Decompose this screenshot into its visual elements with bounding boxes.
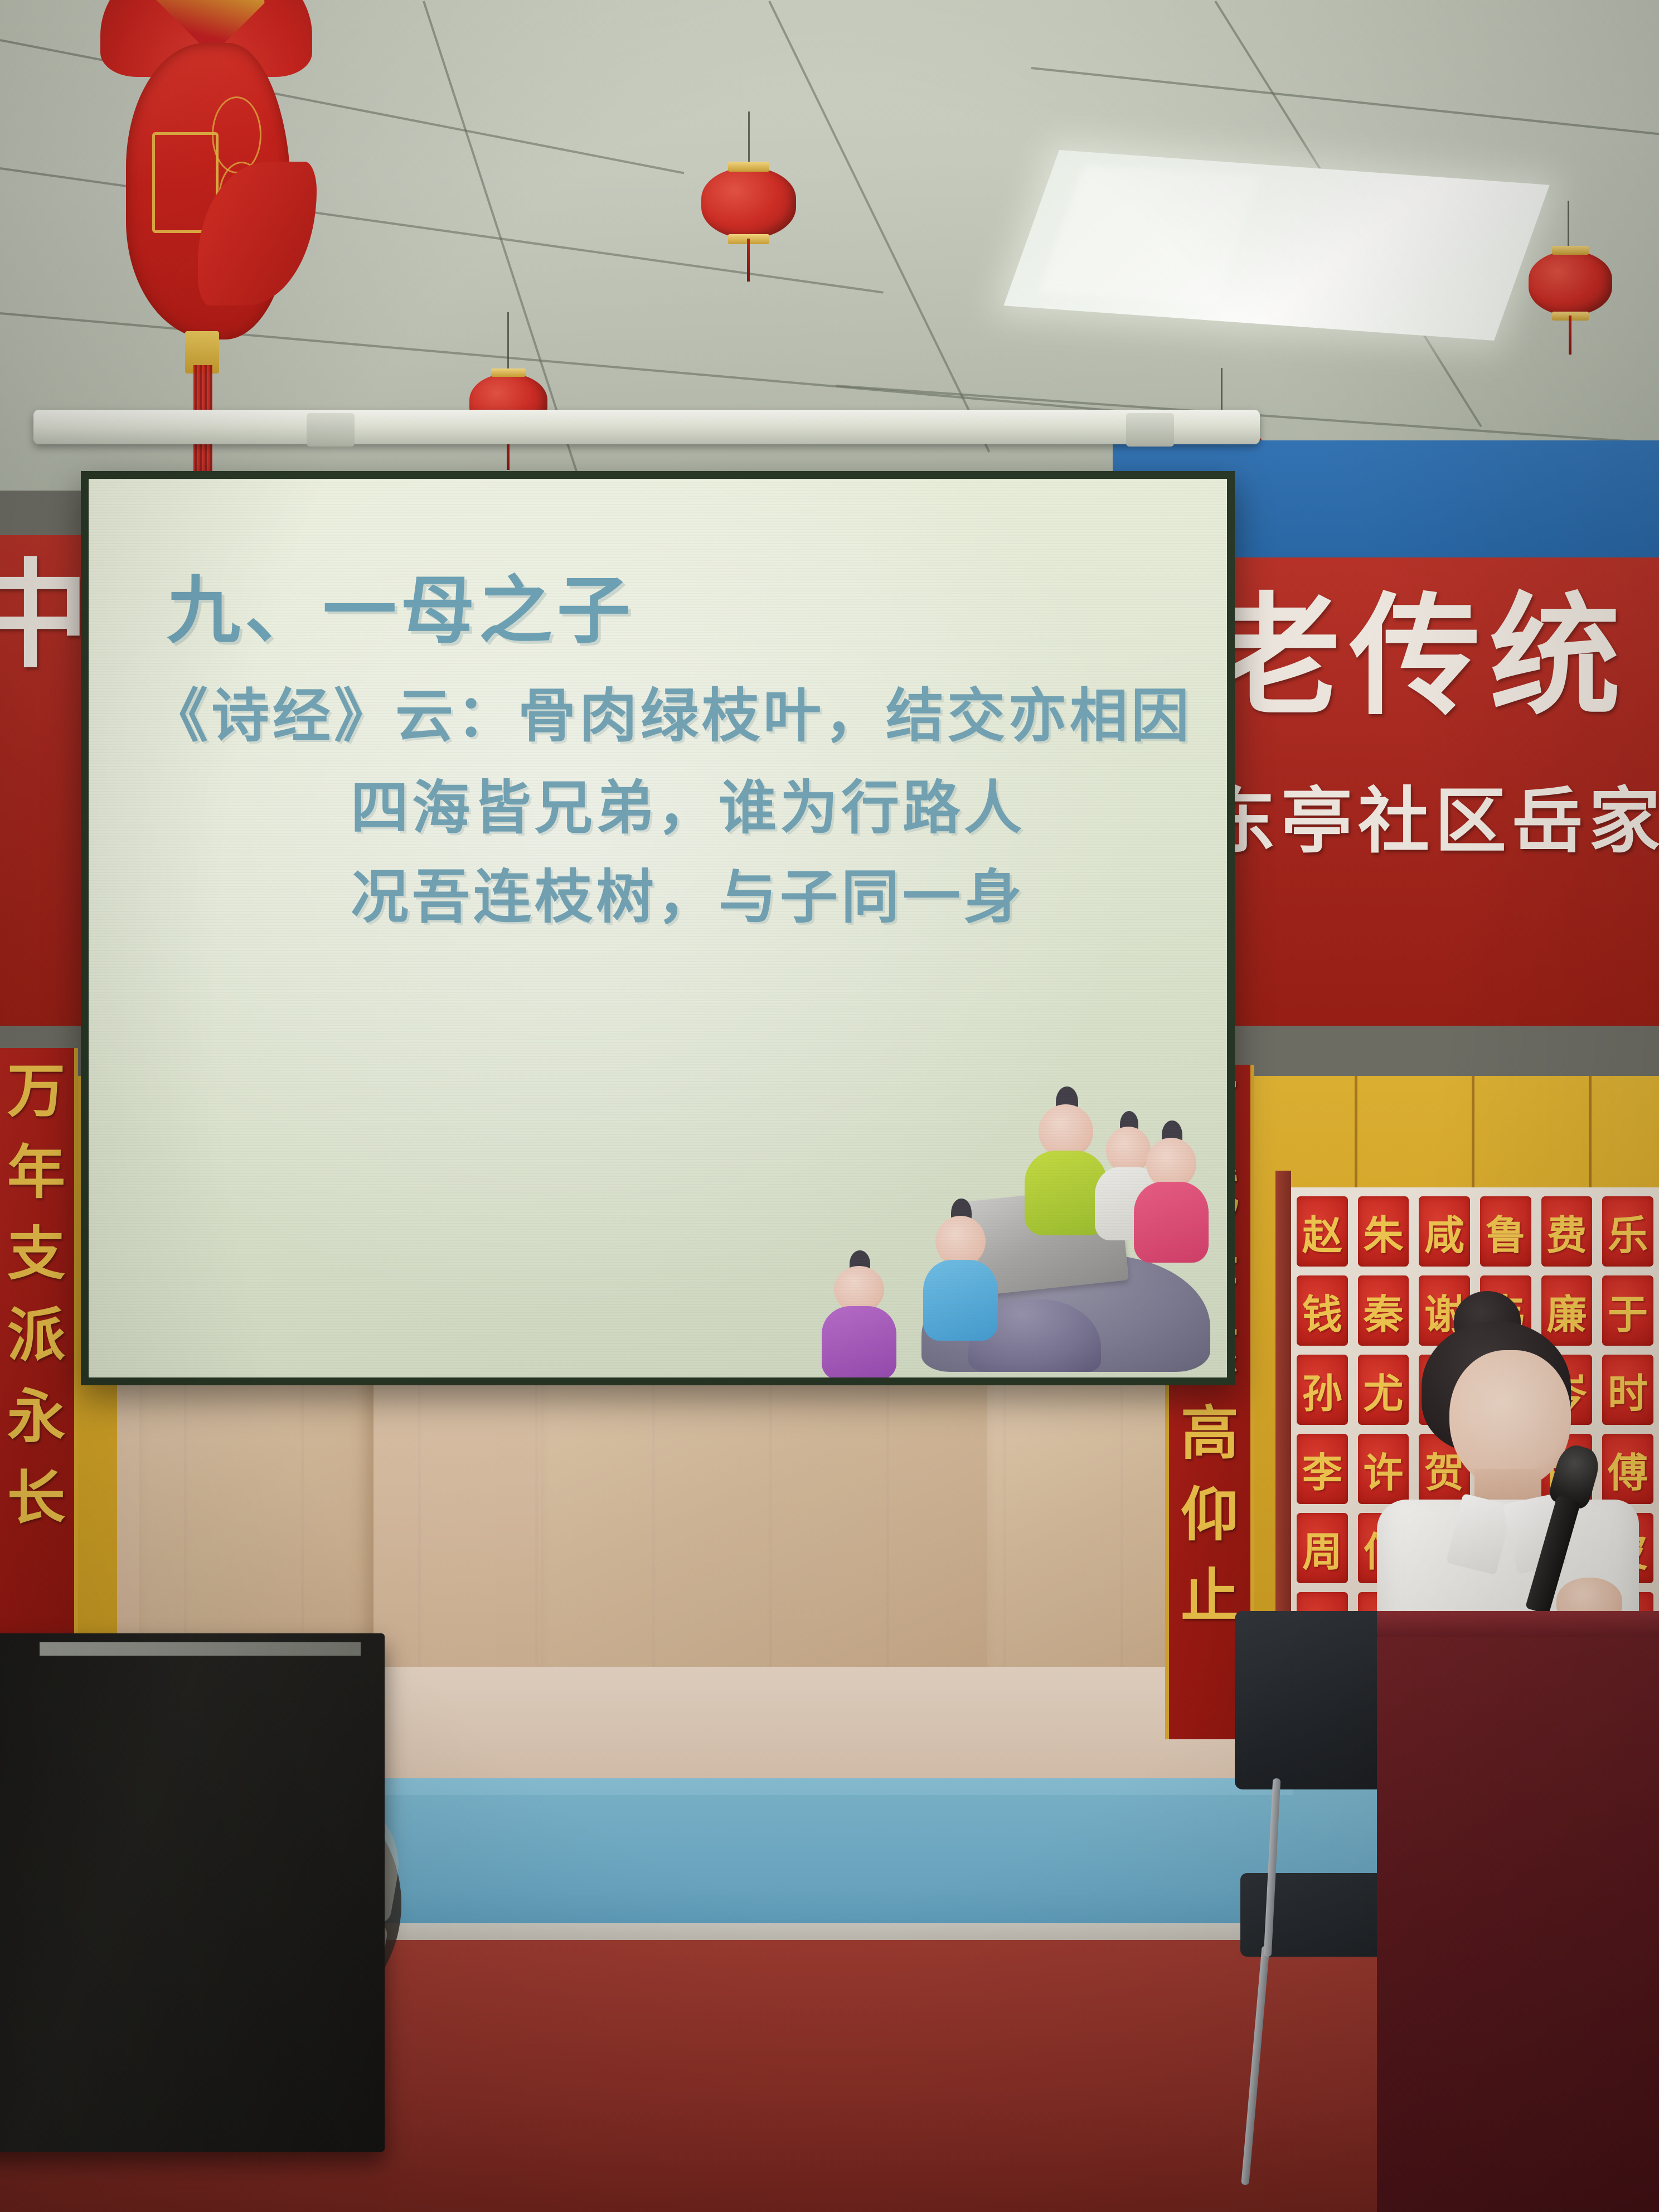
surname-tile: 乐	[1602, 1196, 1653, 1267]
red-lantern	[1529, 251, 1612, 316]
presenter-table	[1377, 1611, 1659, 2212]
illustration-child	[1132, 1138, 1210, 1260]
event-banner-main: 老传统 东亭社区岳家	[1199, 557, 1659, 1026]
couplet-right-char: 高	[1181, 1405, 1239, 1463]
surname-tile: 李	[1297, 1434, 1348, 1504]
projection-screen: 九、一母之子 《诗经》云：骨肉绿枝叶，结交亦相因 四海皆兄弟，谁为行路人 况吾连…	[81, 471, 1235, 1385]
surname-tile: 朱	[1358, 1196, 1409, 1267]
illustration-child	[820, 1266, 898, 1377]
slide-title: 九、一母之子	[167, 551, 635, 658]
slide-line-2: 四海皆兄弟，谁为行路人	[351, 760, 1025, 845]
red-lantern	[701, 167, 796, 239]
couplet-left: 万 年 支 派 永 长	[0, 1048, 78, 1639]
lantern-wire	[1568, 201, 1569, 251]
slide-line-3: 况吾连枝树，与子同一身	[351, 850, 1025, 934]
slide-line-1: 《诗经》云：骨肉绿枝叶，结交亦相因	[150, 668, 1192, 753]
banner-subline: 东亭社区岳家	[1204, 786, 1659, 857]
surname-tile: 钱	[1297, 1275, 1348, 1346]
surname-tile: 咸	[1419, 1196, 1470, 1267]
banner-headline: 老传统	[1210, 591, 1629, 722]
banner-left-text: 中	[0, 557, 89, 675]
lantern-wire	[748, 111, 750, 167]
surname-tile: 孙	[1297, 1355, 1348, 1425]
screen-roller-case[interactable]	[33, 410, 1260, 444]
couplet-right-char: 止	[1181, 1568, 1239, 1626]
pa-speaker-box	[0, 1633, 385, 2152]
illustration-child	[921, 1216, 1000, 1338]
surname-tile: 周	[1297, 1513, 1348, 1583]
couplet-left-char: 长	[7, 1469, 65, 1527]
couplet-left-char: 年	[7, 1144, 65, 1202]
couplet-left-char: 支	[7, 1225, 65, 1283]
photo-scene: 中 老传统 东亭社区岳家 万 年 支 派 永 长	[0, 0, 1659, 2212]
couplet-right-char: 仰	[1181, 1486, 1239, 1544]
couplet-left-char: 永	[7, 1388, 65, 1446]
mural-plinth	[312, 1667, 1293, 1795]
ceiling-light	[1003, 150, 1549, 341]
slide-surface: 九、一母之子 《诗经》云：骨肉绿枝叶，结交亦相因 四海皆兄弟，谁为行路人 况吾连…	[89, 479, 1227, 1377]
fish-knot-ornament	[100, 0, 312, 373]
lantern-wire	[507, 312, 509, 373]
slide-illustration	[820, 1093, 1210, 1372]
surname-tile: 费	[1541, 1196, 1593, 1267]
surname-tile: 鲁	[1480, 1196, 1531, 1267]
couplet-left-char: 派	[7, 1307, 65, 1365]
couplet-left-char: 万	[7, 1063, 65, 1120]
surname-tile: 赵	[1297, 1196, 1348, 1267]
